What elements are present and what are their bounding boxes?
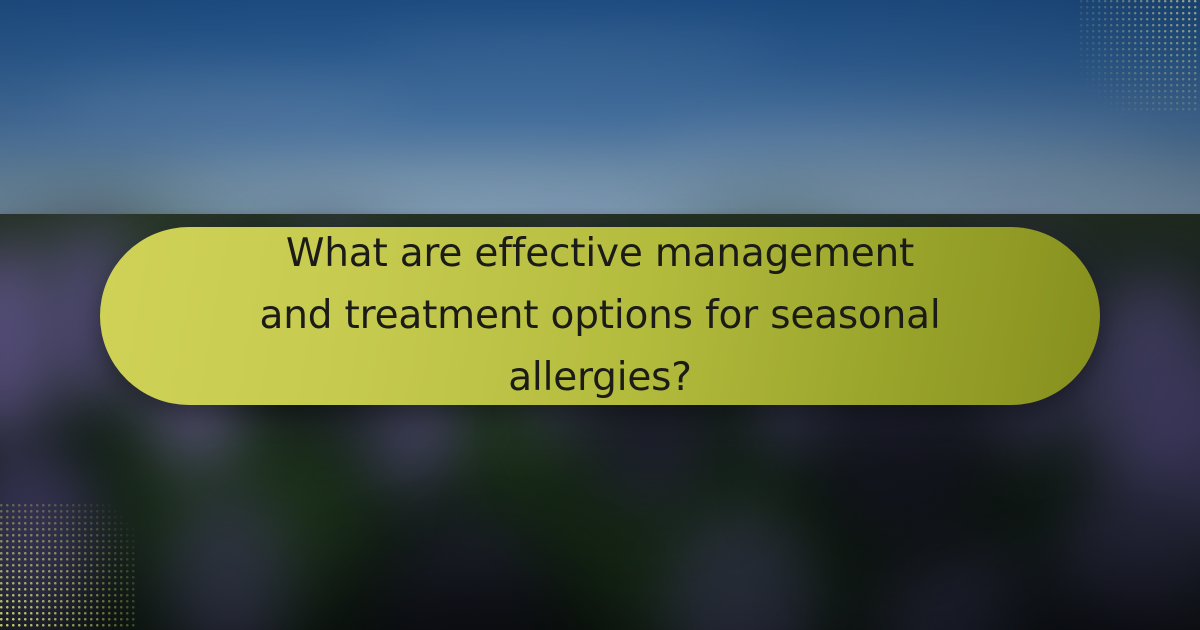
cloud-wisp [144,164,764,204]
lavender-flower-blob [0,444,94,630]
cloud-wisp [648,120,1168,166]
image-canvas: What are effective management and treatm… [0,0,1200,630]
cloud-wisp [48,76,408,128]
shadow-blob [804,391,1004,551]
cloud-wisp [360,32,780,72]
question-text: What are effective management and treatm… [250,223,950,409]
question-card: What are effective management and treatm… [100,227,1100,405]
